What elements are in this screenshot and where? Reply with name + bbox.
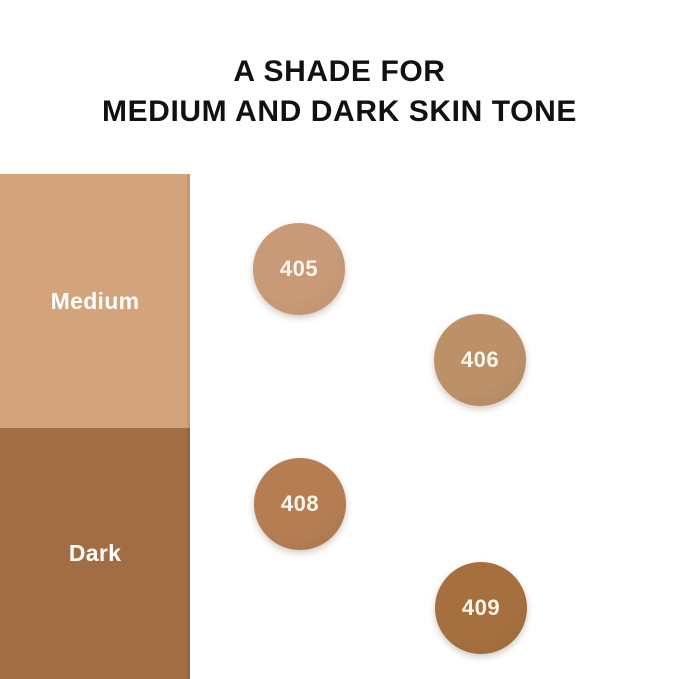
page-title: A SHADE FOR MEDIUM AND DARK SKIN TONE <box>0 52 679 132</box>
title-line-2: MEDIUM AND DARK SKIN TONE <box>0 92 679 132</box>
shade-swatch-406[interactable]: 406 <box>434 314 526 406</box>
shade-chart-canvas: A SHADE FOR MEDIUM AND DARK SKIN TONE Me… <box>0 0 679 679</box>
shade-code-409: 409 <box>462 595 500 621</box>
shade-swatch-405[interactable]: 405 <box>253 223 345 315</box>
tone-legend: Medium Dark <box>0 174 190 679</box>
shade-swatch-409[interactable]: 409 <box>435 562 527 654</box>
tone-block-medium: Medium <box>0 174 190 428</box>
shade-code-405: 405 <box>280 256 318 282</box>
shade-swatch-408[interactable]: 408 <box>254 458 346 550</box>
shade-code-408: 408 <box>281 491 319 517</box>
title-line-1: A SHADE FOR <box>0 52 679 92</box>
tone-block-dark: Dark <box>0 428 190 679</box>
tone-label-dark: Dark <box>69 540 121 567</box>
shade-code-406: 406 <box>461 347 499 373</box>
tone-label-medium: Medium <box>51 288 140 315</box>
